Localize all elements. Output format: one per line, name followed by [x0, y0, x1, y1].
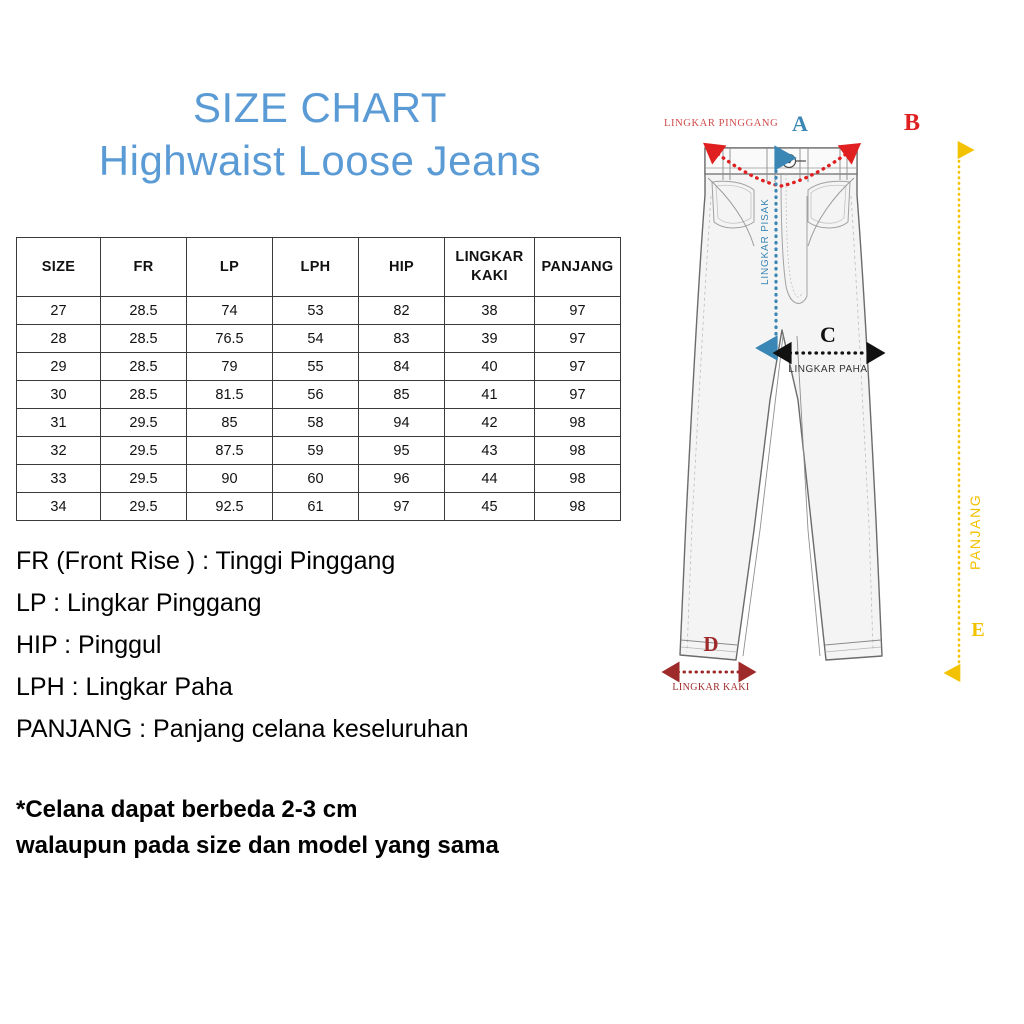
- cell-fr: 28.5: [101, 381, 187, 409]
- cell-lph: 59: [273, 437, 359, 465]
- cell-lph: 60: [273, 465, 359, 493]
- cell-lingkar-kaki: 45: [445, 493, 535, 521]
- cell-lingkar-kaki: 44: [445, 465, 535, 493]
- legend-item-hip: HIP : Pinggul: [16, 624, 616, 666]
- column-header-lp: LP: [187, 238, 273, 297]
- cell-size: 27: [17, 297, 101, 325]
- marker-e: E: [971, 619, 984, 641]
- cell-hip: 97: [359, 493, 445, 521]
- note-line-1: *Celana dapat berbeda 2-3 cm: [16, 792, 656, 828]
- table-row: 28 28.5 76.5 54 83 39 97: [17, 325, 621, 353]
- cell-lingkar-kaki: 40: [445, 353, 535, 381]
- cell-lp: 87.5: [187, 437, 273, 465]
- note-line-2: walaupun pada size dan model yang sama: [16, 828, 656, 864]
- cell-lingkar-kaki: 42: [445, 409, 535, 437]
- cell-hip: 94: [359, 409, 445, 437]
- cell-fr: 29.5: [101, 409, 187, 437]
- cell-panjang: 97: [535, 325, 621, 353]
- table-row: 32 29.5 87.5 59 95 43 98: [17, 437, 621, 465]
- button-center: [787, 159, 791, 163]
- label-lingkar-pisak: LINGKAR PISAK: [760, 198, 771, 285]
- cell-hip: 84: [359, 353, 445, 381]
- label-lingkar-pinggang: LINGKAR PINGGANG: [664, 118, 778, 129]
- title-line-secondary: Highwaist Loose Jeans: [0, 134, 640, 188]
- cell-lph: 61: [273, 493, 359, 521]
- jeans-measurement-diagram: LINGKAR PINGGANG LINGKAR PISAK A B C LIN…: [650, 100, 1024, 720]
- cell-hip: 83: [359, 325, 445, 353]
- jeans-body-outline: [680, 148, 882, 660]
- table-row: 29 28.5 79 55 84 40 97: [17, 353, 621, 381]
- cell-panjang: 97: [535, 353, 621, 381]
- column-header-lingkar-kaki: LINGKAR KAKI: [445, 238, 535, 297]
- size-chart-table-container: SIZE FR LP LPH HIP LINGKAR KAKI PANJANG …: [16, 237, 620, 521]
- cell-size: 34: [17, 493, 101, 521]
- label-panjang: PANJANG: [967, 494, 983, 570]
- cell-lp: 79: [187, 353, 273, 381]
- column-header-lingkar-kaki-line2: KAKI: [471, 268, 508, 284]
- marker-b: B: [904, 110, 920, 136]
- marker-a: A: [792, 111, 808, 136]
- cell-panjang: 98: [535, 493, 621, 521]
- cell-panjang: 97: [535, 381, 621, 409]
- cell-hip: 96: [359, 465, 445, 493]
- cell-lph: 54: [273, 325, 359, 353]
- cell-fr: 29.5: [101, 437, 187, 465]
- table-row: 33 29.5 90 60 96 44 98: [17, 465, 621, 493]
- cell-lp: 74: [187, 297, 273, 325]
- cell-fr: 28.5: [101, 353, 187, 381]
- cell-panjang: 97: [535, 297, 621, 325]
- size-chart-table: SIZE FR LP LPH HIP LINGKAR KAKI PANJANG …: [16, 237, 621, 521]
- column-header-lph: LPH: [273, 238, 359, 297]
- legend-item-panjang: PANJANG : Panjang celana keseluruhan: [16, 708, 616, 750]
- table-row: 27 28.5 74 53 82 38 97: [17, 297, 621, 325]
- jeans-illustration: [680, 148, 882, 660]
- cell-lingkar-kaki: 39: [445, 325, 535, 353]
- cell-panjang: 98: [535, 465, 621, 493]
- cell-fr: 28.5: [101, 297, 187, 325]
- cell-lp: 90: [187, 465, 273, 493]
- table-header-row: SIZE FR LP LPH HIP LINGKAR KAKI PANJANG: [17, 238, 621, 297]
- cell-size: 33: [17, 465, 101, 493]
- legend-item-lp: LP : Lingkar Pinggang: [16, 582, 616, 624]
- cell-size: 32: [17, 437, 101, 465]
- title-line-primary: SIZE CHART: [0, 82, 640, 134]
- column-header-size: SIZE: [17, 238, 101, 297]
- column-header-lingkar-kaki-line1: LINGKAR: [455, 249, 523, 265]
- table-row: 31 29.5 85 58 94 42 98: [17, 409, 621, 437]
- cell-hip: 95: [359, 437, 445, 465]
- cell-lingkar-kaki: 41: [445, 381, 535, 409]
- cell-fr: 28.5: [101, 325, 187, 353]
- cell-lph: 58: [273, 409, 359, 437]
- cell-size: 31: [17, 409, 101, 437]
- cell-lingkar-kaki: 38: [445, 297, 535, 325]
- page-title: SIZE CHART Highwaist Loose Jeans: [0, 82, 640, 188]
- measurement-legend: FR (Front Rise ) : Tinggi Pinggang LP : …: [16, 540, 616, 750]
- table-body: 27 28.5 74 53 82 38 97 28 28.5 76.5 54 8…: [17, 297, 621, 521]
- cell-lp: 85: [187, 409, 273, 437]
- column-header-fr: FR: [101, 238, 187, 297]
- label-lingkar-kaki: LINGKAR KAKI: [672, 682, 749, 693]
- cell-hip: 82: [359, 297, 445, 325]
- measure-panjang: PANJANG E: [959, 150, 985, 673]
- legend-item-fr: FR (Front Rise ) : Tinggi Pinggang: [16, 540, 616, 582]
- cell-lph: 55: [273, 353, 359, 381]
- column-header-panjang: PANJANG: [535, 238, 621, 297]
- cell-lp: 76.5: [187, 325, 273, 353]
- disclaimer-note: *Celana dapat berbeda 2-3 cm walaupun pa…: [16, 792, 656, 864]
- cell-size: 29: [17, 353, 101, 381]
- table-row: 30 28.5 81.5 56 85 41 97: [17, 381, 621, 409]
- cell-lph: 56: [273, 381, 359, 409]
- cell-panjang: 98: [535, 409, 621, 437]
- cell-fr: 29.5: [101, 493, 187, 521]
- cell-fr: 29.5: [101, 465, 187, 493]
- cell-hip: 85: [359, 381, 445, 409]
- cell-lph: 53: [273, 297, 359, 325]
- label-lingkar-paha: LINGKAR PAHA: [788, 364, 867, 375]
- cell-lp: 81.5: [187, 381, 273, 409]
- cell-lp: 92.5: [187, 493, 273, 521]
- marker-c: C: [820, 322, 836, 347]
- cell-panjang: 98: [535, 437, 621, 465]
- legend-item-lph: LPH : Lingkar Paha: [16, 666, 616, 708]
- cell-size: 28: [17, 325, 101, 353]
- column-header-hip: HIP: [359, 238, 445, 297]
- marker-d: D: [703, 632, 718, 656]
- cell-lingkar-kaki: 43: [445, 437, 535, 465]
- table-row: 34 29.5 92.5 61 97 45 98: [17, 493, 621, 521]
- cell-size: 30: [17, 381, 101, 409]
